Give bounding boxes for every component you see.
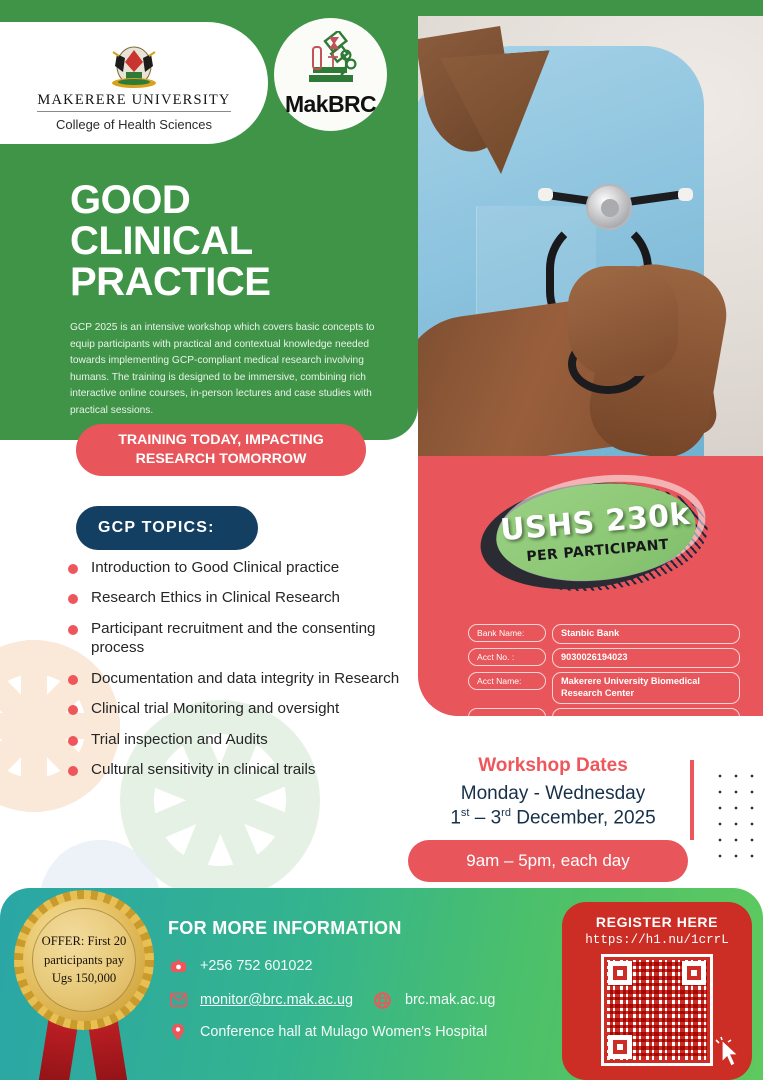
list-item: Participant recruitment and the consenti… bbox=[68, 619, 408, 658]
contact-phone-row: +256 752 601022 bbox=[168, 956, 312, 976]
workshop-date-range: 1st – 3rd December, 2025 bbox=[418, 807, 688, 829]
bullet-icon bbox=[68, 766, 78, 776]
offer-seal-badge: OFFER: First 20 participants pay Ugs 150… bbox=[10, 886, 158, 1034]
intro-paragraph: GCP 2025 is an intensive workshop which … bbox=[70, 320, 382, 419]
contact-email-row: monitor@brc.mak.ac.ug brc.mak.ac.ug bbox=[168, 990, 495, 1010]
price-badge: USHS 230k PER PARTICIPANT bbox=[468, 472, 718, 597]
topic-label: Documentation and data integrity in Rese… bbox=[91, 669, 399, 688]
phone-icon bbox=[168, 956, 188, 976]
list-item: Documentation and data integrity in Rese… bbox=[68, 669, 408, 688]
hero-photo-nurse-with-stethoscope bbox=[418, 16, 763, 456]
email-address[interactable]: monitor@brc.mak.ac.ug bbox=[200, 992, 353, 1008]
venue-text: Conference hall at Mulago Women's Hospit… bbox=[200, 1024, 487, 1040]
bullet-icon bbox=[68, 564, 78, 574]
bank-value: Makerere University Biomedical Research … bbox=[552, 672, 740, 704]
price-and-bank-panel: USHS 230k PER PARTICIPANT Bank Name: Sta… bbox=[418, 456, 763, 716]
topic-label: Participant recruitment and the consenti… bbox=[91, 619, 408, 658]
bullet-icon bbox=[68, 675, 78, 685]
table-row-truncated bbox=[468, 708, 740, 726]
dot-grid-decoration bbox=[712, 768, 763, 860]
bank-details-table: Bank Name: Stanbic Bank Acct No. : 90300… bbox=[468, 624, 740, 730]
workshop-time-banner: 9am – 5pm, each day bbox=[408, 840, 688, 882]
table-row: Acct Name: Makerere University Biomedica… bbox=[468, 672, 740, 704]
bullet-icon bbox=[68, 594, 78, 604]
bullet-icon bbox=[68, 736, 78, 746]
register-url[interactable]: https://h1.nu/1crrL bbox=[585, 933, 729, 947]
bank-value: Stanbic Bank bbox=[552, 624, 740, 644]
university-name: MAKERERE UNIVERSITY bbox=[37, 92, 230, 112]
workshop-dates-block: Workshop Dates Monday - Wednesday 1st – … bbox=[418, 755, 688, 829]
bank-label: Acct No. : bbox=[468, 648, 546, 666]
phone-number[interactable]: +256 752 601022 bbox=[200, 958, 312, 974]
bank-label: Bank Name: bbox=[468, 624, 546, 642]
register-card[interactable]: REGISTER HERE https://h1.nu/1crrL bbox=[562, 902, 752, 1080]
poster-root: MAKERERE UNIVERSITY College of Health Sc… bbox=[0, 0, 763, 1080]
list-item: Trial inspection and Audits bbox=[68, 730, 408, 749]
website-url[interactable]: brc.mak.ac.ug bbox=[405, 992, 495, 1008]
click-cursor-icon bbox=[714, 1036, 744, 1070]
title-line-2: CLINICAL bbox=[70, 221, 400, 262]
map-pin-icon bbox=[168, 1022, 188, 1042]
college-name: College of Health Sciences bbox=[56, 117, 212, 132]
makerere-university-logo-card: MAKERERE UNIVERSITY College of Health Sc… bbox=[0, 22, 268, 144]
workshop-dates-title: Workshop Dates bbox=[418, 755, 688, 777]
list-item: Clinical trial Monitoring and oversight bbox=[68, 699, 408, 718]
contact-location-row: Conference hall at Mulago Women's Hospit… bbox=[168, 1022, 487, 1042]
offer-text: OFFER: First 20 participants pay Ugs 150… bbox=[33, 932, 135, 989]
makerere-crest-icon bbox=[103, 42, 165, 90]
page-title: GOOD CLINICAL PRACTICE bbox=[70, 180, 400, 302]
bank-value: 9030026194023 bbox=[552, 648, 740, 668]
register-heading: REGISTER HERE bbox=[596, 914, 718, 930]
gcp-topics-heading: GCP TOPICS: bbox=[76, 506, 258, 550]
list-item: Introduction to Good Clinical practice bbox=[68, 558, 408, 577]
makbrc-logo: MakBRC bbox=[274, 18, 387, 131]
makbrc-wordmark: MakBRC bbox=[285, 91, 376, 118]
gcp-topics-list: Introduction to Good Clinical practice R… bbox=[68, 558, 408, 791]
qr-code[interactable] bbox=[601, 954, 713, 1066]
title-line-1: GOOD bbox=[70, 180, 400, 221]
contact-heading: FOR MORE INFORMATION bbox=[168, 918, 402, 939]
table-row: Acct No. : 9030026194023 bbox=[468, 648, 740, 668]
vertical-divider bbox=[690, 760, 694, 840]
workshop-days: Monday - Wednesday bbox=[418, 783, 688, 805]
globe-icon bbox=[373, 990, 393, 1010]
bank-label: Acct Name: bbox=[468, 672, 546, 690]
table-row: Bank Name: Stanbic Bank bbox=[468, 624, 740, 644]
list-item: Cultural sensitivity in clinical trails bbox=[68, 760, 408, 779]
topic-label: Clinical trial Monitoring and oversight bbox=[91, 699, 339, 718]
topic-label: Trial inspection and Audits bbox=[91, 730, 268, 749]
topic-label: Introduction to Good Clinical practice bbox=[91, 558, 339, 577]
title-line-3: PRACTICE bbox=[70, 262, 400, 303]
bullet-icon bbox=[68, 705, 78, 715]
topic-label: Research Ethics in Clinical Research bbox=[91, 588, 340, 607]
tagline-banner: TRAINING TODAY, IMPACTING RESEARCH TOMOR… bbox=[76, 424, 366, 476]
envelope-icon bbox=[168, 990, 188, 1010]
microscope-icon bbox=[297, 31, 365, 93]
list-item: Research Ethics in Clinical Research bbox=[68, 588, 408, 607]
bullet-icon bbox=[68, 625, 78, 635]
topic-label: Cultural sensitivity in clinical trails bbox=[91, 760, 316, 779]
